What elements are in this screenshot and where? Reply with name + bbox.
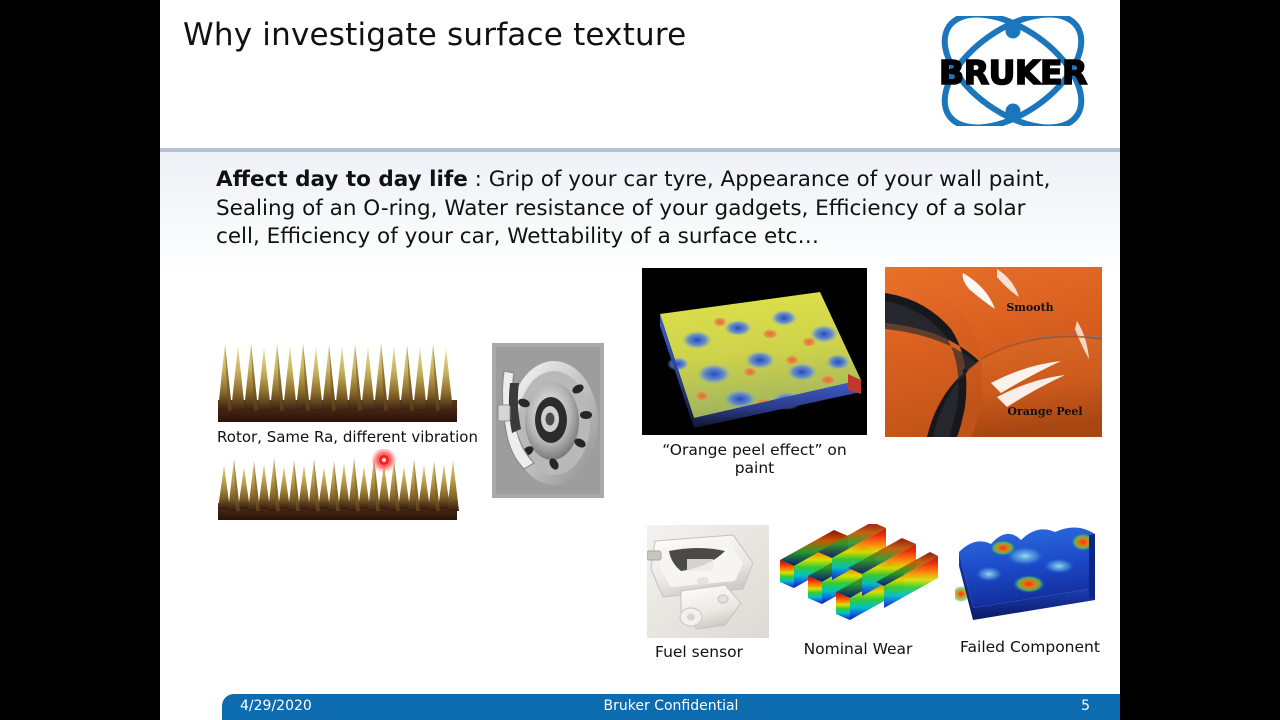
footer-page-number: 5 (1081, 698, 1090, 714)
rotor-surface-rough-3d (215, 449, 460, 521)
fender-label-smooth: Smooth (1006, 301, 1053, 314)
figure-failed-component-caption: Failed Component (955, 638, 1105, 656)
figure-fuel-sensor-caption: Fuel sensor (647, 643, 769, 661)
figure-orange-peel-caption: “Orange peel effect” on paint (642, 441, 867, 477)
letterbox-left (0, 0, 160, 720)
figure-nominal-wear: Nominal Wear (778, 524, 938, 658)
failed-component-surface-3d (955, 522, 1105, 632)
rotor-surface-smooth-3d (215, 338, 460, 423)
footer-confidentiality: Bruker Confidential (222, 698, 1120, 714)
presentation-slide: Why investigate surface texture BRUKER A… (160, 0, 1120, 720)
orbit-node-bottom (1006, 104, 1021, 119)
orange-peel-surface-3d-map (642, 268, 867, 435)
fuel-sensor-photo (647, 525, 769, 638)
nominal-wear-surface-3d (778, 524, 938, 636)
red-dot-marker-center (382, 458, 386, 462)
video-player-stage: Why investigate surface texture BRUKER A… (0, 0, 1280, 720)
brake-rotor-assembly-photo (492, 343, 604, 498)
orbit-node-top (1006, 24, 1021, 39)
figure-orange-peel-3d: “Orange peel effect” on paint (642, 268, 867, 477)
slide-header: Why investigate surface texture BRUKER (160, 0, 1120, 150)
letterbox-right (1120, 0, 1280, 720)
figure-rotor-caption: Rotor, Same Ra, different vibration (215, 428, 480, 446)
figure-brake-disc (492, 343, 604, 498)
figure-rotor-surfaces: Rotor, Same Ra, different vibration (215, 338, 480, 521)
figure-failed-component: Failed Component (955, 522, 1105, 656)
figure-nominal-wear-caption: Nominal Wear (778, 640, 938, 658)
page-title: Why investigate surface texture (183, 17, 686, 53)
lead-bold-lead-in: Affect day to day life (216, 167, 468, 192)
slide-footer: 4/29/2020 Bruker Confidential 5 (222, 694, 1120, 720)
lead-paragraph: Affect day to day life : Grip of your ca… (216, 166, 1056, 252)
orange-car-fender-photo: Smooth Orange Peel (885, 267, 1102, 437)
figure-fender-photo: Smooth Orange Peel (885, 267, 1102, 437)
bruker-logo: BRUKER (922, 16, 1104, 126)
bruker-wordmark: BRUKER (922, 56, 1104, 89)
fender-label-orange-peel: Orange Peel (1007, 405, 1082, 418)
figure-fuel-sensor: Fuel sensor (647, 525, 769, 661)
